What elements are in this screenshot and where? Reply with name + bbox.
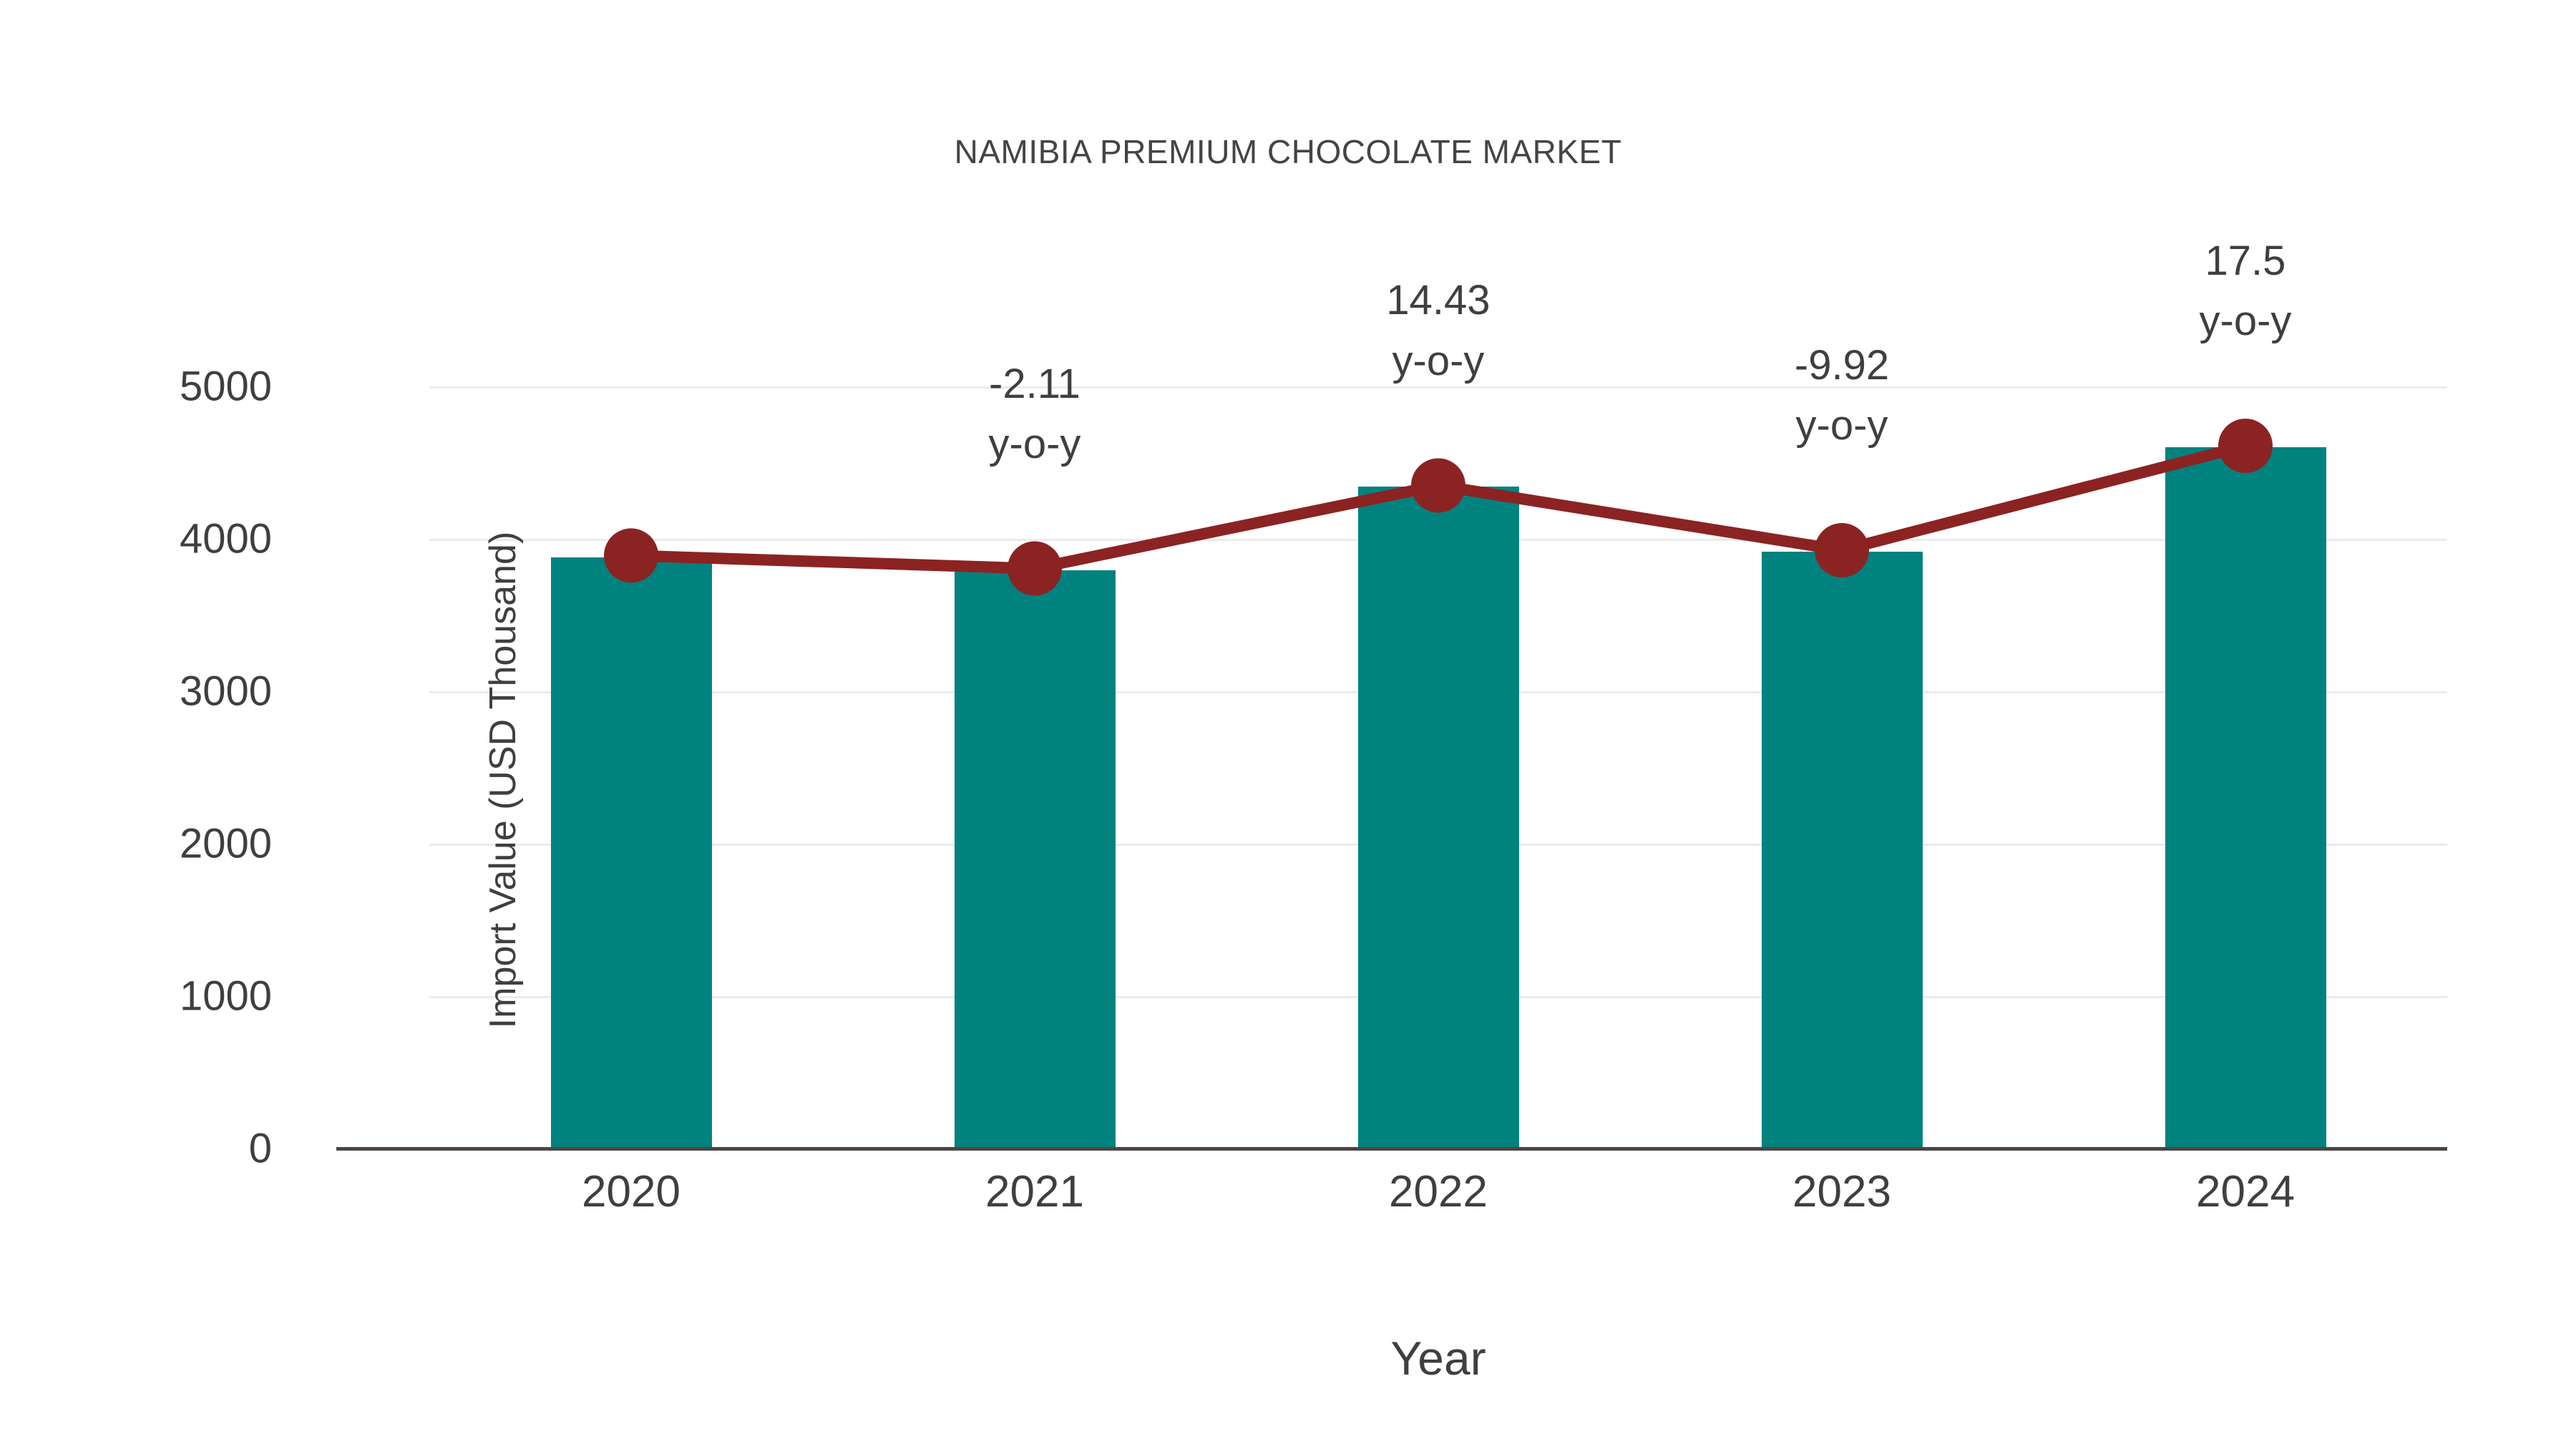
yoy-annotation-suffix: y-o-y — [1252, 331, 1624, 391]
bar — [1358, 487, 1519, 1148]
y-axis-label: Import Value (USD Thousand) — [482, 386, 525, 1174]
yoy-annotation: -2.11y-o-y — [849, 354, 1221, 474]
yoy-annotation-value: 17.5 — [2059, 231, 2431, 291]
x-tick-label: 2022 — [1259, 1166, 1617, 1217]
x-axis-label: Year — [429, 1331, 2447, 1385]
x-tick-label: 2023 — [1663, 1166, 2021, 1217]
yoy-annotation-suffix: y-o-y — [1656, 396, 2028, 456]
x-tick-label: 2024 — [2067, 1166, 2424, 1217]
plot-area: 010002000300040005000 -2.11y-o-y14.43y-o… — [429, 386, 2447, 1148]
y-tick-label: 5000 — [0, 363, 272, 411]
yoy-annotation: 14.43y-o-y — [1252, 270, 1624, 391]
x-tick-label: 2020 — [452, 1166, 810, 1217]
y-tick-label: 2000 — [0, 820, 272, 868]
yoy-annotation: -9.92y-o-y — [1656, 336, 2028, 456]
bar — [1762, 552, 1923, 1148]
y-tick-label: 3000 — [0, 668, 272, 716]
y-tick-label: 0 — [0, 1125, 272, 1173]
y-tick-label: 1000 — [0, 972, 272, 1020]
x-tick-label: 2021 — [856, 1166, 1214, 1217]
bar — [551, 557, 712, 1148]
yoy-annotation: 17.5y-o-y — [2059, 231, 2431, 351]
bar — [955, 570, 1116, 1148]
y-tick-label: 4000 — [0, 515, 272, 563]
yoy-annotation-value: -2.11 — [849, 354, 1221, 414]
yoy-annotation-suffix: y-o-y — [2059, 291, 2431, 351]
yoy-annotation-value: -9.92 — [1656, 336, 2028, 396]
x-axis-line — [336, 1147, 2447, 1151]
bar — [2165, 447, 2326, 1148]
chart-title: NAMIBIA PREMIUM CHOCOLATE MARKET — [0, 132, 2576, 171]
yoy-annotation-value: 14.43 — [1252, 270, 1624, 331]
yoy-annotation-suffix: y-o-y — [849, 414, 1221, 474]
chart-figure: NAMIBIA PREMIUM CHOCOLATE MARKET 0100020… — [0, 0, 2576, 1449]
